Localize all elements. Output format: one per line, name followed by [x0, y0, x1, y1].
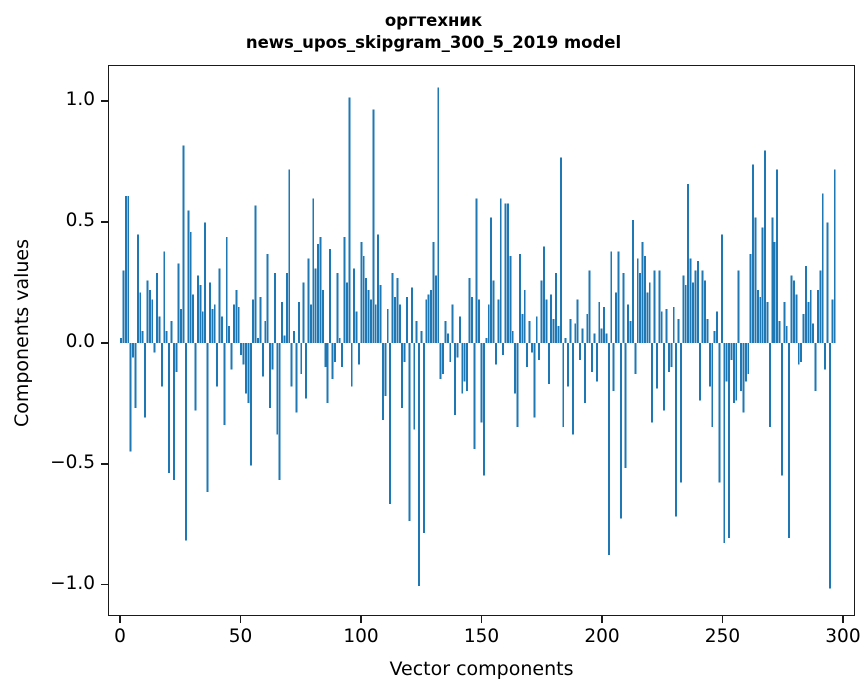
x-tick-mark [842, 616, 844, 623]
plot-area [108, 65, 855, 616]
y-axis-label: Components values [11, 203, 33, 463]
y-tick-label: 0.5 [66, 210, 95, 231]
chart-title-line-2: news_upos_skipgram_300_5_2019 model [0, 32, 867, 54]
y-tick-label: −1.0 [50, 573, 95, 594]
bar-series-canvas [109, 66, 854, 615]
chart-title-line-1: оргтехник [0, 10, 867, 32]
x-tick-label: 0 [80, 626, 160, 647]
x-tick-mark [481, 616, 483, 623]
chart-title: оргтехник news_upos_skipgram_300_5_2019 … [0, 10, 867, 54]
x-tick-mark [601, 616, 603, 623]
x-axis-label: Vector components [108, 658, 855, 680]
y-tick-label: 0.0 [66, 331, 95, 352]
x-tick-label: 50 [201, 626, 281, 647]
x-tick-label: 300 [803, 626, 867, 647]
x-tick-mark [722, 616, 724, 623]
matplotlib-figure: оргтехник news_upos_skipgram_300_5_2019 … [0, 0, 867, 696]
y-tick-label: −0.5 [50, 452, 95, 473]
x-tick-label: 250 [682, 626, 762, 647]
x-tick-label: 150 [442, 626, 522, 647]
x-tick-label: 100 [321, 626, 401, 647]
x-tick-mark [360, 616, 362, 623]
x-tick-label: 200 [562, 626, 642, 647]
y-tick-label: 1.0 [66, 89, 95, 110]
y-tick-mark [101, 463, 108, 465]
y-tick-mark [101, 584, 108, 586]
y-tick-mark [101, 221, 108, 223]
x-tick-mark [119, 616, 121, 623]
y-tick-mark [101, 100, 108, 102]
x-tick-mark [240, 616, 242, 623]
y-tick-mark [101, 342, 108, 344]
